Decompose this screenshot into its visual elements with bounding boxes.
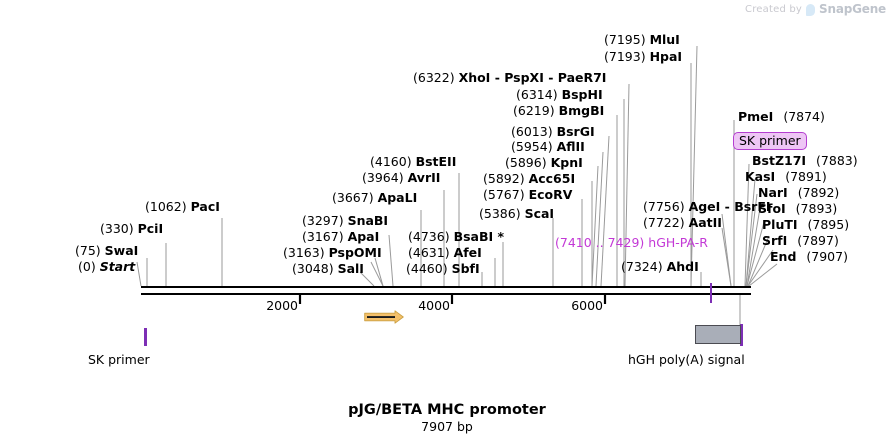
page-title: pJG/BETA MHC promoter [0, 402, 894, 418]
site-label-xhoi-pspxi-paer7i[interactable]: (6322) XhoI - PspXI - PaeR7I [413, 71, 606, 84]
site-label-kpni[interactable]: (5896) KpnI [505, 156, 583, 169]
site-label-agei-bsrfi[interactable]: PmeI (7874) [738, 110, 825, 123]
sk-primer-badge-label: SK primer [733, 132, 807, 150]
site-label-snabi[interactable]: (3297) SnaBI [302, 214, 388, 227]
site-label-ecorv[interactable]: (5767) EcoRV [483, 188, 572, 201]
site-label-apai[interactable]: (3167) ApaI [302, 230, 379, 243]
site-label-zrai[interactable]: (7722) AatII [643, 216, 722, 229]
site-label-avrii[interactable]: (3964) AvrII [362, 171, 440, 184]
watermark-brand-label: SnapGene [819, 2, 886, 16]
axis-tick-4000: 4000 [402, 298, 450, 313]
site-label-nari[interactable]: SfoI (7893) [758, 202, 837, 215]
sk-primer-tick-left[interactable] [144, 328, 147, 346]
sk-primer-feature-label: SK primer [88, 352, 150, 367]
site-label-aflii[interactable]: (5954) AflII [511, 140, 585, 153]
plasmid-map-canvas: Created by SnapGene [0, 0, 894, 441]
site-label-bsphi[interactable]: (6314) BspHI [516, 88, 603, 101]
site-label-scai[interactable]: (5386) ScaI [479, 207, 554, 220]
site-label-apali[interactable]: (3667) ApaLI [332, 191, 417, 204]
site-label-hpai[interactable]: (7193) HpaI [604, 50, 682, 63]
site-label-mlui[interactable]: (7195) MluI [604, 33, 680, 46]
watermark-created-label: Created by [745, 4, 802, 15]
site-label-kasi[interactable]: NarI (7892) [758, 186, 839, 199]
axis-tick-6000: 6000 [555, 298, 603, 313]
plasmid-size-label: 7907 bp [0, 419, 894, 434]
site-label-pcii[interactable]: (330) PciI [100, 222, 163, 235]
snapgene-watermark: Created by SnapGene [745, 2, 886, 16]
snapgene-logo-icon [806, 4, 815, 16]
site-label-paci[interactable]: (1062) PacI [145, 200, 220, 213]
site-label-pluti[interactable]: SrfI (7897) [762, 234, 839, 247]
hgh-pa-r-primer-tick[interactable] [710, 283, 712, 303]
promoter-arrow-feature[interactable] [364, 310, 404, 324]
site-label-bmgbi[interactable]: (6219) BmgBI [513, 104, 604, 117]
site-label-aatii[interactable]: (7756) AgeI - BsrFI [643, 200, 771, 213]
primer-label-hgh-pa-r[interactable]: (7410 .. 7429) hGH-PA-R [555, 236, 708, 249]
axis-tick-2000: 2000 [250, 298, 298, 313]
site-label-bstz17i[interactable]: KasI (7891) [745, 170, 827, 183]
sk-primer-badge[interactable]: SK primer [733, 130, 807, 150]
hgh-polya-signal-feature[interactable] [695, 325, 741, 344]
site-label-bstehi[interactable]: (4160) BstEII [370, 155, 456, 168]
hgh-polya-signal-label: hGH poly(A) signal [628, 352, 745, 367]
site-label-acc65i[interactable]: (5892) Acc65I [483, 172, 575, 185]
site-label-bsabi[interactable]: (4736) BsaBI * [408, 230, 504, 243]
site-label-sfoi[interactable]: PluTI (7895) [762, 218, 849, 231]
site-label-bsrgi[interactable]: (6013) BsrGI [511, 125, 595, 138]
site-label-pmei[interactable]: BstZ17I (7883) [752, 154, 858, 167]
